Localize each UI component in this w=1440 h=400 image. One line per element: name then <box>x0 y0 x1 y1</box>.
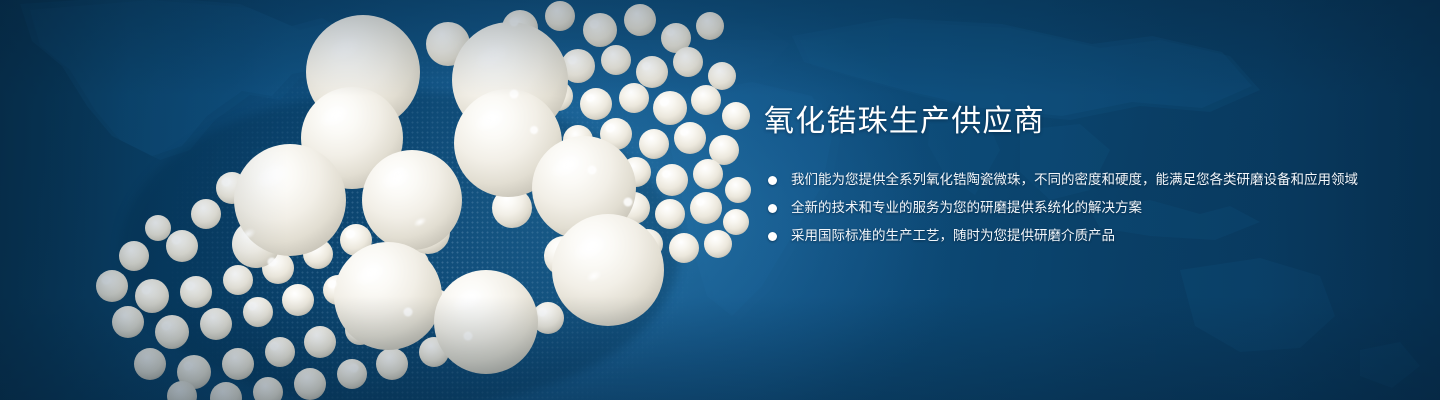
hero-banner: 氧化锆珠生产供应商 我们能为您提供全系列氧化锆陶瓷微珠，不同的密度和硬度，能满足… <box>0 0 1440 400</box>
banner-copy: 氧化锆珠生产供应商 我们能为您提供全系列氧化锆陶瓷微珠，不同的密度和硬度，能满足… <box>764 104 1404 252</box>
list-item-text: 我们能为您提供全系列氧化锆陶瓷微珠，不同的密度和硬度，能满足您各类研磨设备和应用… <box>791 172 1358 187</box>
list-item: 我们能为您提供全系列氧化锆陶瓷微珠，不同的密度和硬度，能满足您各类研磨设备和应用… <box>764 168 1404 191</box>
list-item: 采用国际标准的生产工艺，随时为您提供研磨介质产品 <box>764 224 1404 247</box>
bullet-dot-icon <box>768 176 777 185</box>
bullet-dot-icon <box>768 232 777 241</box>
bullet-dot-icon <box>768 204 777 213</box>
page-title: 氧化锆珠生产供应商 <box>764 104 1404 140</box>
list-item-text: 全新的技术和专业的服务为您的研磨提供系统化的解决方案 <box>791 200 1142 215</box>
list-item-text: 采用国际标准的生产工艺，随时为您提供研磨介质产品 <box>791 228 1115 243</box>
feature-list: 我们能为您提供全系列氧化锆陶瓷微珠，不同的密度和硬度，能满足您各类研磨设备和应用… <box>764 168 1404 247</box>
list-item: 全新的技术和专业的服务为您的研磨提供系统化的解决方案 <box>764 196 1404 219</box>
